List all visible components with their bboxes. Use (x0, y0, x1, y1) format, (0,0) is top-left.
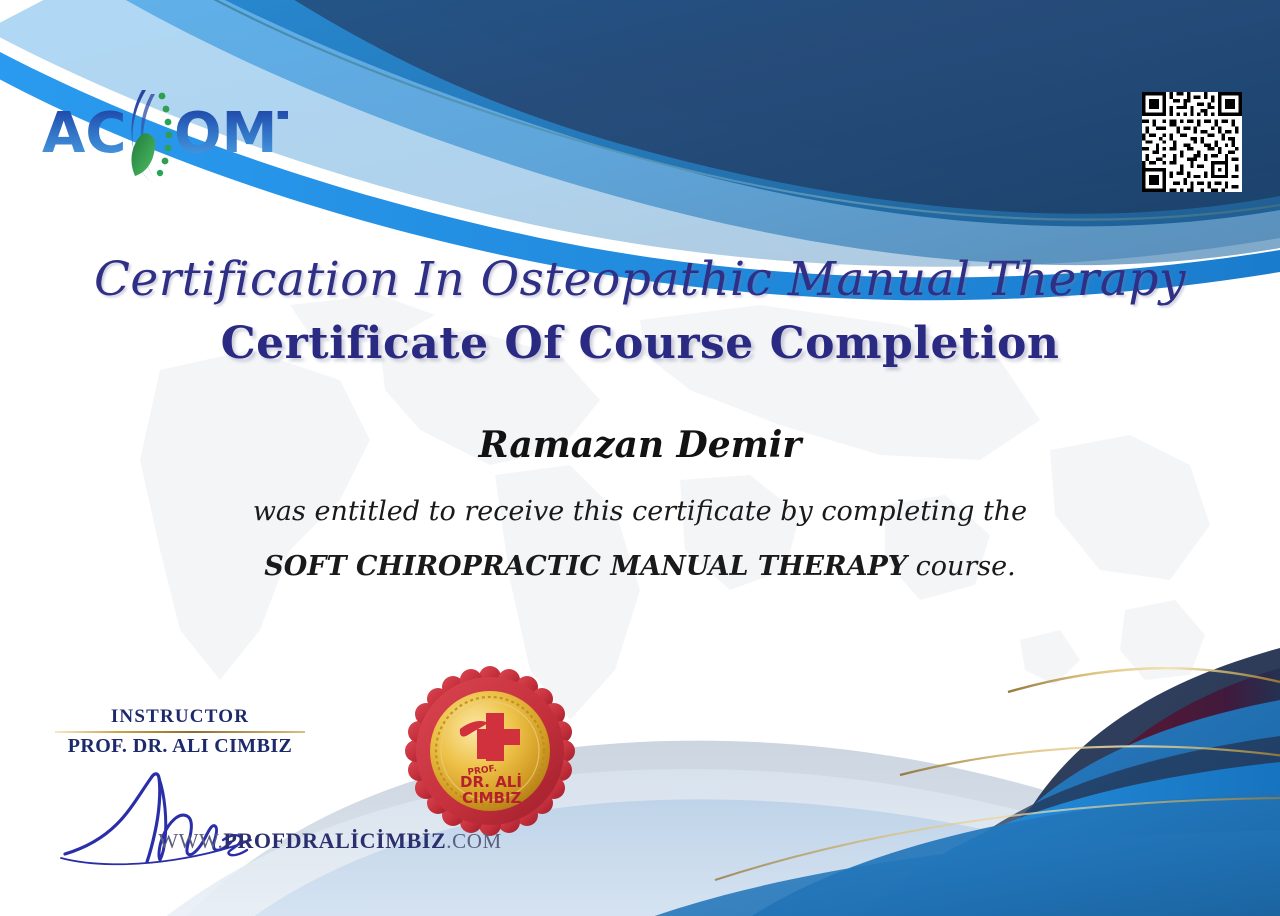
certificate-body-line-2: SOFT CHIROPRACTIC MANUAL THERAPY course. (0, 551, 1280, 582)
svg-text:CIMBIZ: CIMBIZ (462, 789, 522, 807)
course-suffix: course. (907, 551, 1016, 582)
course-name: SOFT CHIROPRACTIC MANUAL THERAPY (264, 551, 907, 582)
recipient-name: Ramazan Demir (0, 424, 1280, 466)
certificate-document: AC OMT (0, 0, 1280, 916)
certificate-title: Certificate Of Course Completion (0, 318, 1280, 369)
website-url[interactable]: WWW.PROFDRALİCİMBİZ.COM (0, 828, 660, 854)
svg-text:OMT: OMT (174, 101, 288, 166)
signature-mark (55, 762, 285, 872)
url-domain: PROFDRALİCİMBİZ (223, 828, 446, 853)
instructor-divider (55, 731, 305, 733)
gold-award-seal: PROF. DR. ALİ CIMBIZ (404, 665, 576, 837)
certificate-body-line-1: was entitled to receive this certificate… (0, 496, 1280, 527)
acsomt-logo: AC OMT (38, 78, 288, 188)
url-prefix: WWW. (158, 829, 223, 853)
svg-text:AC: AC (42, 101, 126, 166)
qr-code[interactable] (1142, 92, 1242, 192)
instructor-name: PROF. DR. ALI CIMBIZ (55, 735, 305, 758)
instructor-block: INSTRUCTOR PROF. DR. ALI CIMBIZ (55, 706, 305, 758)
url-suffix: .COM (446, 829, 502, 853)
certificate-subtitle: Certification In Osteopathic Manual Ther… (0, 252, 1280, 307)
instructor-label: INSTRUCTOR (55, 706, 305, 728)
